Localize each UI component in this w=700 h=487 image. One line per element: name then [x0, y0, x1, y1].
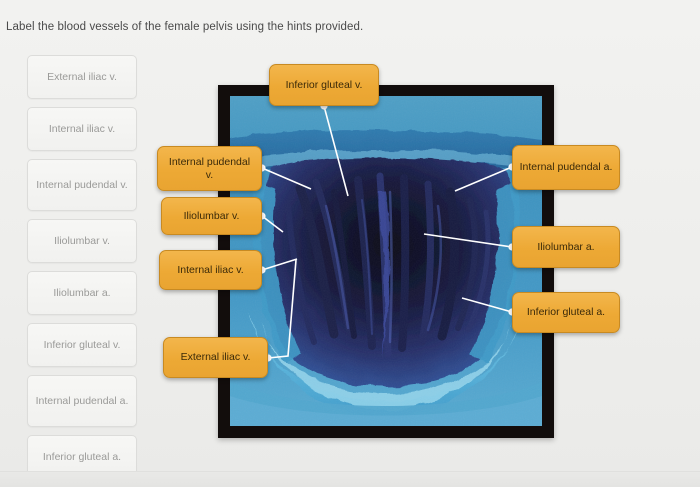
hint-item-inferior-gluteal-v[interactable]: Inferior gluteal v.	[27, 323, 137, 367]
specimen-image	[230, 96, 542, 426]
hint-item-internal-pudendal-a[interactable]: Internal pudendal a.	[27, 375, 137, 427]
hint-item-label: Internal pudendal a.	[36, 395, 129, 408]
hint-item-label: Inferior gluteal v.	[44, 339, 121, 352]
answer-tag-internal-pudendal-a[interactable]: Internal pudendal a.	[512, 145, 620, 190]
hint-item-iliolumbar-a[interactable]: Iliolumbar a.	[27, 271, 137, 315]
hint-item-internal-pudendal-v[interactable]: Internal pudendal v.	[27, 159, 137, 211]
hint-item-label: Internal pudendal v.	[36, 179, 127, 192]
hint-item-iliolumbar-v[interactable]: Iliolumbar v.	[27, 219, 137, 263]
hint-item-external-iliac-v[interactable]: External iliac v.	[27, 55, 137, 99]
page-title: Label the blood vessels of the female pe…	[6, 21, 363, 33]
hint-bank: External iliac v. Internal iliac v. Inte…	[27, 55, 137, 487]
answer-tag-inferior-gluteal-a[interactable]: Inferior gluteal a.	[512, 292, 620, 333]
hint-item-label: Iliolumbar v.	[54, 235, 110, 248]
question-page: Label the blood vessels of the female pe…	[0, 0, 700, 487]
answer-tag-label: Inferior gluteal v.	[286, 79, 363, 92]
hint-item-label: External iliac v.	[47, 71, 117, 84]
hint-item-label: Inferior gluteal a.	[43, 451, 121, 464]
answer-tag-inferior-gluteal-v[interactable]: Inferior gluteal v.	[269, 64, 379, 106]
answer-tag-label: Internal pudendal v.	[164, 156, 255, 182]
answer-tag-label: Internal pudendal a.	[520, 161, 613, 174]
answer-tag-iliolumbar-v[interactable]: Iliolumbar v.	[161, 197, 262, 235]
answer-tag-internal-pudendal-v[interactable]: Internal pudendal v.	[157, 146, 262, 191]
bottom-strip	[0, 472, 700, 487]
answer-tag-internal-iliac-v[interactable]: Internal iliac v.	[159, 250, 262, 290]
answer-tag-label: External iliac v.	[181, 351, 251, 364]
hint-item-internal-iliac-v[interactable]: Internal iliac v.	[27, 107, 137, 151]
hint-item-label: Internal iliac v.	[49, 123, 115, 136]
hint-item-label: Iliolumbar a.	[53, 287, 110, 300]
answer-tag-label: Iliolumbar a.	[537, 241, 594, 254]
specimen-image-frame	[218, 85, 554, 438]
answer-tag-label: Inferior gluteal a.	[527, 306, 605, 319]
answer-tag-iliolumbar-a[interactable]: Iliolumbar a.	[512, 226, 620, 268]
answer-tag-label: Iliolumbar v.	[184, 210, 240, 223]
answer-tag-label: Internal iliac v.	[177, 264, 243, 277]
answer-tag-external-iliac-v[interactable]: External iliac v.	[163, 337, 268, 378]
pelvis-specimen-illustration	[230, 96, 542, 426]
